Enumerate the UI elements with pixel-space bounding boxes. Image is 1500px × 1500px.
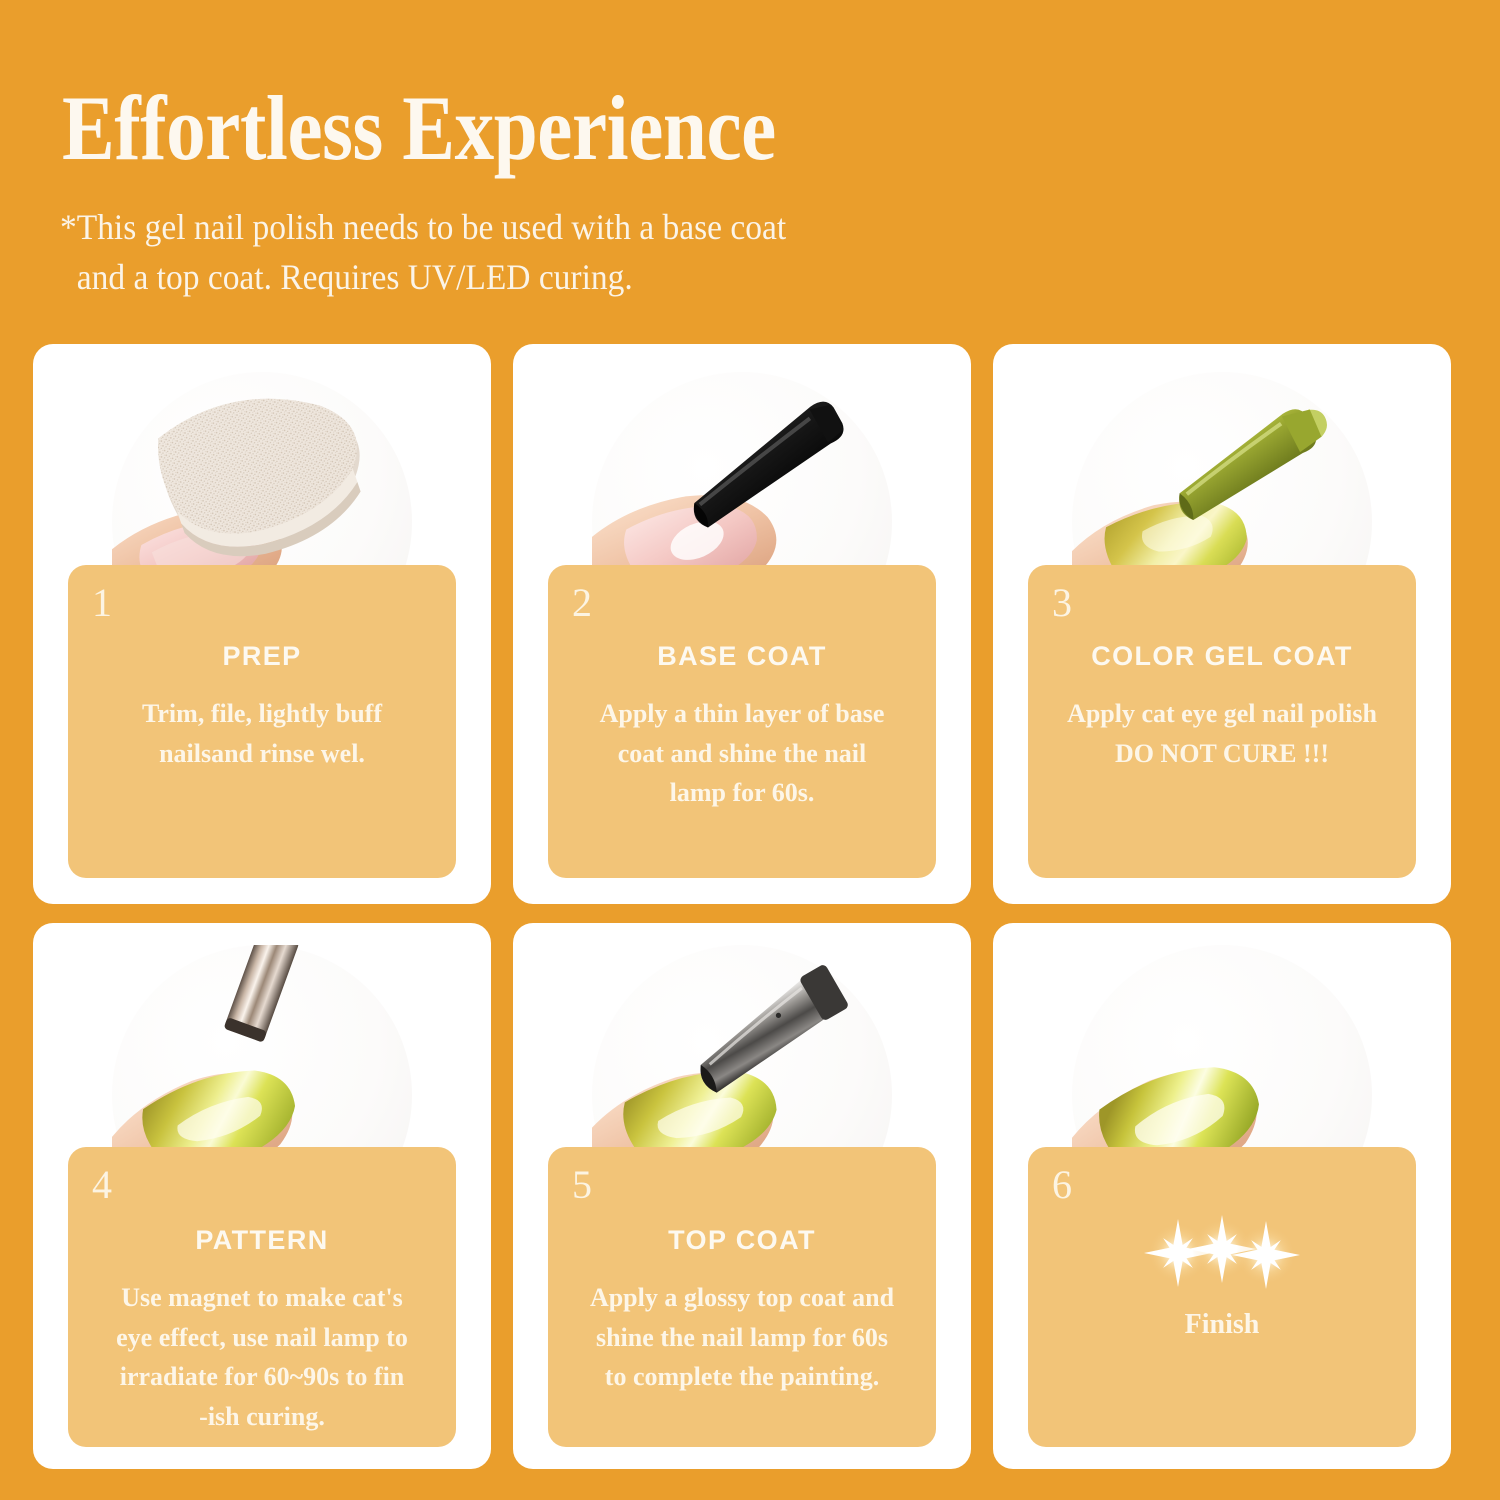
sparkles-group [1028,1209,1416,1295]
header-subtitle: *This gel nail polish needs to be used w… [60,203,990,302]
step-description: Trim, file, lightly buff nailsand rinse … [82,694,442,773]
step-title: TOP COAT [562,1225,922,1256]
step-description: Apply a thin layer of base coat and shin… [562,694,922,813]
step-number: 4 [92,1165,112,1205]
header-banner: Effortless Experience *This gel nail pol… [0,0,1500,340]
step-card-1[interactable]: 1 PREP Trim, file, lightly buff nailsand… [33,344,491,904]
step-description: Apply cat eye gel nail polish DO NOT CUR… [1042,694,1402,773]
step-panel-2: 2 BASE COAT Apply a thin layer of base c… [548,565,936,878]
step-number: 6 [1052,1165,1072,1205]
step-title: COLOR GEL COAT [1042,641,1402,672]
step-card-6[interactable]: 6 [993,923,1451,1469]
steps-grid: 1 PREP Trim, file, lightly buff nailsand… [33,344,1467,1469]
step-panel-3: 3 COLOR GEL COAT Apply cat eye gel nail … [1028,565,1416,878]
step-title: PATTERN [82,1225,442,1256]
step-number: 5 [572,1165,592,1205]
step-title: BASE COAT [562,641,922,672]
page-title: Effortless Experience [62,82,776,174]
step-title: PREP [82,641,442,672]
step-description: Apply a glossy top coat and shine the na… [562,1278,922,1397]
finish-label: Finish [1028,1309,1416,1341]
sparkle-star-icons [1028,1209,1416,1295]
step-number: 1 [92,583,112,623]
step-panel-6: 6 [1028,1147,1416,1447]
step-card-4[interactable]: 4 PATTERN Use magnet to make cat's eye e… [33,923,491,1469]
step-card-5[interactable]: 5 TOP COAT Apply a glossy top coat and s… [513,923,971,1469]
step-panel-4: 4 PATTERN Use magnet to make cat's eye e… [68,1147,456,1447]
step-number: 2 [572,583,592,623]
step-panel-1: 1 PREP Trim, file, lightly buff nailsand… [68,565,456,878]
step-number: 3 [1052,583,1072,623]
step-card-2[interactable]: 2 BASE COAT Apply a thin layer of base c… [513,344,971,904]
step-card-3[interactable]: 3 COLOR GEL COAT Apply cat eye gel nail … [993,344,1451,904]
step-panel-5: 5 TOP COAT Apply a glossy top coat and s… [548,1147,936,1447]
step-description: Use magnet to make cat's eye effect, use… [82,1278,442,1436]
